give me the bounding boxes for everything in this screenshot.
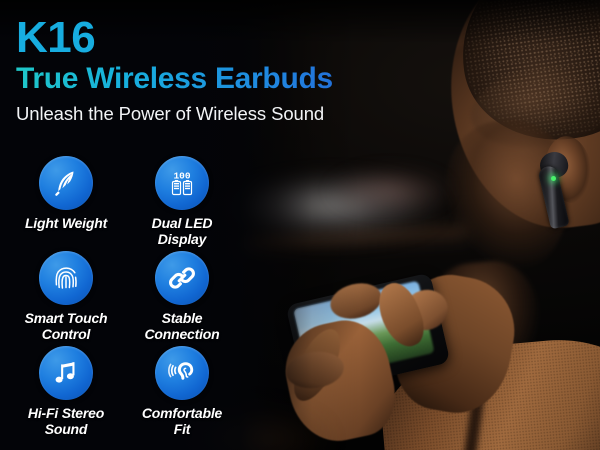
feature-comfortable-fit: Comfortable Fit: [124, 346, 240, 441]
link-chain-icon: [155, 251, 209, 305]
feature-light-weight: Light Weight: [8, 156, 124, 251]
fingerprint-icon: [39, 251, 93, 305]
product-model: K16: [16, 16, 436, 61]
feature-label: Hi-Fi Stereo Sound: [28, 406, 104, 437]
svg-text:100: 100: [173, 171, 190, 182]
title-block: K16 True Wireless Earbuds Unleash the Po…: [16, 16, 436, 125]
feature-stable-connection: Stable Connection: [124, 251, 240, 346]
battery-display-icon: 100: [155, 156, 209, 210]
feature-label: Smart Touch Control: [25, 311, 108, 342]
feature-label: Dual LED Display: [152, 216, 213, 247]
product-headline: True Wireless Earbuds: [16, 63, 436, 95]
product-tagline: Unleash the Power of Wireless Sound: [16, 103, 436, 124]
feature-label: Comfortable Fit: [142, 406, 222, 437]
music-note-icon: [39, 346, 93, 400]
feature-grid: Light Weight 100: [8, 156, 240, 441]
feature-label: Stable Connection: [145, 311, 220, 342]
feature-label: Light Weight: [25, 216, 107, 232]
feature-smart-touch-control: Smart Touch Control: [8, 251, 124, 346]
product-banner: K16 True Wireless Earbuds Unleash the Po…: [0, 0, 600, 450]
feather-icon: [39, 156, 93, 210]
ear-waves-icon: [155, 346, 209, 400]
banner-content: K16 True Wireless Earbuds Unleash the Po…: [0, 0, 600, 450]
feature-dual-led-display: 100 Dual LED Display: [124, 156, 240, 251]
feature-hifi-stereo-sound: Hi-Fi Stereo Sound: [8, 346, 124, 441]
